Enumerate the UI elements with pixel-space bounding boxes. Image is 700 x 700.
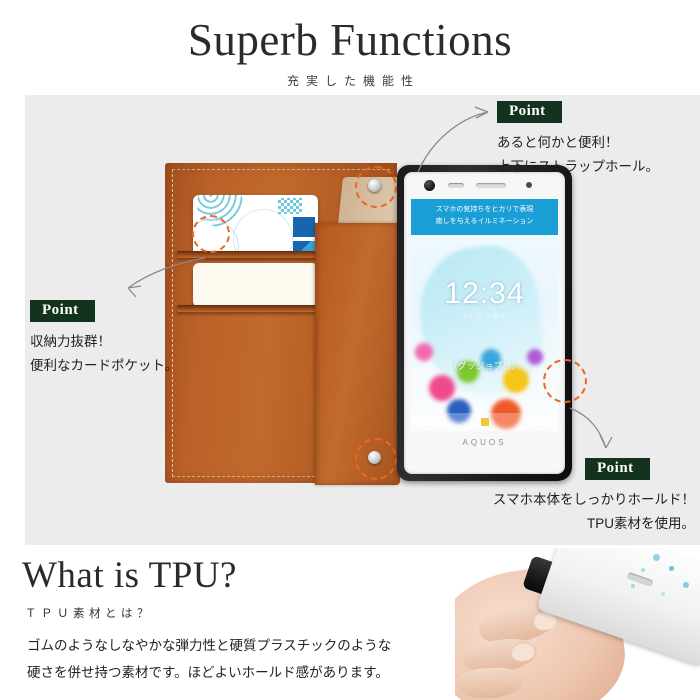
point-badge-top: Point [497, 101, 562, 123]
callout-bottom-line2: TPU素材を使用。 [450, 512, 695, 536]
screen-blob-1 [429, 375, 455, 401]
proximity-sensor-icon [526, 182, 532, 188]
callout-strap-hole: Point あると何かと便利！ 上下にストラップホール。 [497, 101, 659, 179]
page-title: Superb Functions [0, 0, 700, 63]
point-badge-bottom: Point [585, 458, 650, 480]
nav-home-icon [481, 418, 489, 426]
phone-pattern-speck-1 [653, 554, 660, 561]
phone-pattern-speck-6 [631, 584, 635, 588]
tpu-title: What is TPU? [22, 554, 237, 597]
highlight-circle-strap-hole-top [355, 166, 397, 208]
callout-tpu-hold: Point スマホ本体をしっかりホールド！ TPU素材を使用。 [450, 458, 695, 536]
callout-left-line1: 収納力抜群！ [30, 330, 178, 354]
phone-pattern-speck-3 [641, 568, 645, 572]
tpu-body-line2: 硬さを併せ持つ素材です。ほどよいホールド感があります。 [27, 659, 437, 686]
infographic-page: Superb Functions 充実した機能性 [0, 0, 700, 700]
point-badge-top-wrap: Point [497, 101, 659, 123]
tpu-subtitle: ＴＰＵ素材とは？ [25, 605, 153, 621]
tpu-case: スマホの気持ちをヒカリで表現 癒しを与えるイルミネーション 12:34 3月7日… [397, 165, 572, 481]
callout-left-line2: 便利なカードポケット。 [30, 354, 178, 378]
phone-screen: スマホの気持ちをヒカリで表現 癒しを与えるイルミネーション 12:34 3月7日… [411, 199, 558, 431]
page-subtitle: 充実した機能性 [0, 72, 700, 89]
tpu-body: ゴムのようなしなやかな弾力性と硬質プラスチックのような 硬さを併せ持つ素材です。… [27, 632, 437, 686]
screen-date: 3月7日 火曜日 [411, 311, 558, 320]
callout-top-text: あると何かと便利！ 上下にストラップホール。 [497, 131, 659, 179]
header: Superb Functions 充実した機能性 [0, 0, 700, 95]
phone-pattern-speck-4 [683, 582, 689, 588]
card-cream [193, 263, 318, 307]
nav-phone-icon [427, 418, 435, 426]
screen-banner-line1: スマホの気持ちをヒカリで表現 [411, 204, 558, 216]
callout-card-pocket: Point 収納力抜群！ 便利なカードポケット。 [30, 300, 178, 378]
screen-banner: スマホの気持ちをヒカリで表現 癒しを与えるイルミネーション [411, 199, 558, 235]
card-checker-square [278, 198, 302, 214]
callout-top-line2: 上下にストラップホール。 [497, 155, 659, 179]
highlight-circle-strap-hole-bottom [355, 438, 397, 480]
screen-clock: 12:34 [411, 277, 558, 311]
card-blue-block-1 [293, 217, 315, 237]
point-badge-left-wrap: Point [30, 300, 178, 322]
callout-bottom-text: スマホ本体をしっかりホールド！ TPU素材を使用。 [450, 488, 695, 536]
product-photo-wallet-case: スマホの気持ちをヒカリで表現 癒しを与えるイルミネーション 12:34 3月7日… [165, 163, 585, 483]
highlight-circle-tpu-hold [543, 359, 587, 403]
phone-body: スマホの気持ちをヒカリで表現 癒しを与えるイルミネーション 12:34 3月7日… [404, 172, 565, 474]
point-badge-bottom-wrap: Point [450, 458, 695, 480]
phone-pattern-speck-2 [669, 566, 674, 571]
callout-top-line1: あると何かと便利！ [497, 131, 659, 155]
screen-caption: （グッジョブ！） [411, 359, 558, 372]
callout-left-text: 収納力抜群！ 便利なカードポケット。 [30, 330, 178, 378]
earpiece-grille [476, 183, 506, 188]
screen-navbar [411, 413, 558, 431]
highlight-circle-card-pocket [192, 215, 230, 253]
screen-banner-line2: 癒しを与えるイルミネーション [411, 216, 558, 228]
phone-brand-label: AQUOS [404, 438, 565, 447]
photo-hand-flexing-case [455, 548, 700, 700]
front-camera-icon [424, 180, 435, 191]
nav-camera-icon [533, 418, 541, 426]
tpu-section: What is TPU? ＴＰＵ素材とは？ ゴムのようなしなやかな弾力性と硬質プ… [0, 548, 700, 700]
callout-bottom-line1: スマホ本体をしっかりホールド！ [450, 488, 695, 512]
sensor-slot [448, 183, 464, 188]
card-outline-circle-2 [233, 209, 293, 257]
tpu-body-line1: ゴムのようなしなやかな弾力性と硬質プラスチックのような [27, 632, 437, 659]
phone-pattern-speck-5 [661, 592, 665, 596]
point-badge-left: Point [30, 300, 95, 322]
